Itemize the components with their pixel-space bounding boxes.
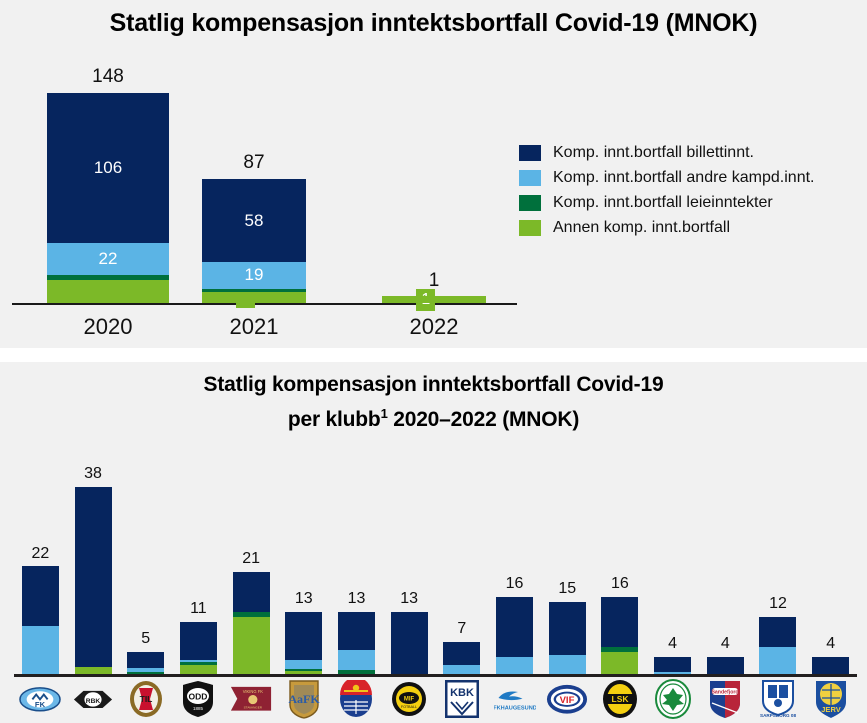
club-bar-10[interactable]	[549, 602, 586, 677]
club-logo-odd: ODD1885	[172, 680, 225, 723]
top-chart-plot-area: 164221061482020821958872021112022	[12, 60, 517, 305]
club-bar-total-12: 4	[646, 635, 699, 653]
legend-swatch-billettinnt	[519, 145, 541, 161]
svg-text:SARPSBORG 08: SARPSBORG 08	[760, 713, 796, 718]
club-bar-segment-0-billettinnt	[22, 566, 59, 626]
top-bar-segment-2020-billettinnt: 106	[47, 93, 169, 244]
club-bar-9[interactable]	[496, 597, 533, 677]
club-bar-segment-6-billettinnt	[338, 612, 375, 650]
svg-text:AaFK: AaFK	[288, 692, 320, 706]
svg-text:LSK: LSK	[611, 694, 629, 704]
svg-text:RBK: RBK	[86, 697, 101, 704]
odd-icon: ODD1885	[181, 680, 215, 723]
top-bar-segment-2020-annen	[47, 280, 169, 303]
svg-text:STAVANGER: STAVANGER	[244, 706, 263, 710]
svg-text:ODD: ODD	[189, 692, 208, 702]
club-bar-segment-14-billettinnt	[759, 617, 796, 647]
top-bar-total-2021: 87	[202, 152, 306, 174]
bottom-chart-title-line2-b: 2020–2022 (MNOK)	[388, 408, 580, 431]
top-category-label-2021: 2021	[202, 314, 306, 340]
top-bar-total-2020: 148	[47, 66, 169, 88]
bottom-chart-title-line2-a: per klubb	[288, 408, 381, 431]
club-bar-8[interactable]	[443, 642, 480, 677]
club-bar-total-14: 12	[752, 595, 805, 613]
fk-haugesund-icon: FKHAUGESUND	[494, 686, 536, 717]
club-logo-viking-fk: VIKING FKSTAVANGER	[225, 680, 278, 723]
chart-page: Statlig kompensasjon inntektsbortfall Co…	[0, 0, 867, 723]
club-bar-3[interactable]	[180, 622, 217, 677]
bottom-chart-title-line2: per klubb1 2020–2022 (MNOK)	[0, 399, 867, 434]
svg-text:VIF: VIF	[560, 695, 575, 706]
club-bar-total-15: 4	[804, 635, 857, 653]
club-bar-total-0: 22	[14, 545, 67, 563]
legend-label-billettinnt: Komp. innt.bortfall billettinnt.	[553, 144, 754, 162]
club-logo-kristiansund-bk: KBK	[436, 680, 489, 723]
legend-label-annen: Annen komp. innt.bortfall	[553, 219, 730, 237]
club-bar-segment-10-billettinnt	[549, 602, 586, 655]
club-logo-sandefjord-fotball	[330, 680, 383, 723]
svg-text:JERV: JERV	[821, 705, 840, 714]
top-bar-2021[interactable]: 1958	[202, 179, 306, 303]
top-chart-title: Statlig kompensasjon inntektsbortfall Co…	[0, 9, 867, 38]
club-logo-rosenborg-bk: RBK	[67, 680, 120, 723]
legend-item-leieinntekter[interactable]: Komp. innt.bortfall leieinntekter	[519, 190, 814, 215]
top-bar-segment-2021-andre_kampd: 19	[202, 262, 306, 289]
legend-swatch-leieinntekter	[519, 195, 541, 211]
top-chart-legend: Komp. innt.bortfall billettinnt.Komp. in…	[519, 140, 814, 240]
club-bar-segment-6-leieinntekter	[338, 670, 375, 674]
svg-text:TIL: TIL	[139, 694, 152, 704]
svg-text:FK: FK	[35, 700, 46, 709]
top-segment-label-2020-billettinnt: 106	[47, 159, 169, 176]
sandefjord-fotball-icon	[338, 680, 374, 723]
top-bar-total-2022: 1	[382, 270, 486, 292]
club-logo-tromso-il: TIL	[119, 680, 172, 723]
club-bar-segment-5-billettinnt	[285, 612, 322, 660]
club-bar-7[interactable]	[391, 612, 428, 677]
svg-text:KBK: KBK	[450, 687, 474, 699]
club-bar-segment-4-leieinntekter	[233, 612, 270, 617]
top-bar-segment-2021-billettinnt: 58	[202, 179, 306, 261]
hamkam-icon	[655, 679, 691, 723]
bottom-chart-title-line1: Statlig kompensasjon inntektsbortfall Co…	[204, 373, 664, 396]
club-bar-total-10: 15	[541, 580, 594, 598]
top-category-label-2022: 2022	[382, 314, 486, 340]
club-logo-sarpsborg-08: SARPSBORG 08	[752, 680, 805, 723]
top-chart-axis	[12, 303, 517, 305]
club-logo-fk-jerv: JERV	[804, 680, 857, 723]
club-bar-6[interactable]	[338, 612, 375, 677]
club-bar-1[interactable]	[75, 487, 112, 677]
top-bar-segment-2020-andre_kampd: 22	[47, 243, 169, 274]
legend-swatch-andre_kampd	[519, 170, 541, 186]
top-segment-label-2021-billettinnt: 58	[202, 212, 306, 229]
tromso-il-icon: TIL	[128, 680, 164, 723]
top-segment-label-2020-andre_kampd: 22	[47, 250, 169, 267]
footnote-marker: 1	[381, 406, 388, 421]
club-bar-segment-11-leieinntekter	[601, 647, 638, 652]
top-segment-label-2021-andre_kampd: 19	[202, 266, 306, 283]
club-bar-11[interactable]	[601, 597, 638, 677]
club-bar-14[interactable]	[759, 617, 796, 677]
club-bar-segment-3-leieinntekter	[180, 662, 217, 665]
top-bar-segment-2021-annen	[202, 292, 306, 303]
club-bar-segment-11-billettinnt	[601, 597, 638, 647]
viking-fk-icon: VIKING FKSTAVANGER	[230, 685, 272, 717]
club-bar-segment-2-andre_kampd	[127, 668, 164, 672]
svg-text:FKHAUGESUND: FKHAUGESUND	[494, 706, 536, 712]
club-bar-total-3: 11	[172, 600, 225, 618]
bottom-chart-plot-area: 223851121131313716151644124	[14, 447, 857, 677]
legend-swatch-annen	[519, 220, 541, 236]
club-logo-lillestrom-alt: MIFFOTBALL	[383, 680, 436, 723]
bottom-chart-axis	[14, 674, 857, 677]
svg-text:MIF: MIF	[404, 697, 415, 703]
club-bar-total-5: 13	[277, 590, 330, 608]
club-logo-fk-haugesund: FKHAUGESUND	[488, 680, 541, 723]
club-bar-total-11: 16	[594, 575, 647, 593]
top-bar-2020[interactable]: 22106	[47, 93, 169, 303]
club-bar-segment-5-andre_kampd	[285, 660, 322, 669]
club-bar-segment-4-annen	[233, 617, 270, 677]
legend-label-leieinntekter: Komp. innt.bortfall leieinntekter	[553, 194, 773, 212]
club-bar-segment-0-andre_kampd	[22, 626, 59, 676]
top-bar-segment-2022-annen	[382, 296, 486, 303]
club-bar-total-4: 21	[225, 550, 278, 568]
club-logo-hamkam	[646, 680, 699, 723]
club-bar-segment-4-billettinnt	[233, 572, 270, 612]
club-bar-0[interactable]	[22, 567, 59, 677]
club-bar-segment-9-billettinnt	[496, 597, 533, 657]
top-chart-panel: Statlig kompensasjon inntektsbortfall Co…	[0, 0, 867, 348]
club-bar-4[interactable]	[233, 572, 270, 677]
club-bar-segment-12-billettinnt	[654, 657, 691, 672]
club-bar-total-8: 7	[436, 620, 489, 638]
svg-text:VIKING FK: VIKING FK	[243, 690, 264, 695]
club-bar-segment-13-billettinnt	[707, 657, 744, 674]
top-bar-2022[interactable]	[382, 297, 486, 303]
club-bar-segment-8-billettinnt	[443, 642, 480, 665]
valerenga-icon: VIF	[546, 683, 588, 721]
molde-fk-icon: FK	[19, 686, 61, 718]
rosenborg-bk-icon: RBK	[72, 688, 114, 716]
club-bar-segment-6-andre_kampd	[338, 650, 375, 670]
club-logo-sandefjord: Sandefjord	[699, 680, 752, 723]
fk-jerv-icon: JERV	[814, 679, 848, 723]
club-bar-total-1: 38	[67, 465, 120, 483]
club-bar-segment-2-billettinnt	[127, 652, 164, 668]
lillestrom-sk-icon: LSK	[602, 679, 638, 723]
club-bar-total-9: 16	[488, 575, 541, 593]
club-bar-segment-14-andre_kampd	[759, 647, 796, 677]
top-category-label-2020: 2020	[47, 314, 169, 340]
club-bar-total-6: 13	[330, 590, 383, 608]
club-bar-segment-3-billettinnt	[180, 622, 217, 660]
kristiansund-bk-icon: KBK	[445, 680, 479, 723]
bottom-chart-title: Statlig kompensasjon inntektsbortfall Co…	[0, 370, 867, 434]
svg-text:FOTBALL: FOTBALL	[401, 705, 417, 709]
legend-item-billettinnt[interactable]: Komp. innt.bortfall billettinnt.	[519, 140, 814, 165]
club-bar-total-13: 4	[699, 635, 752, 653]
legend-item-andre_kampd[interactable]: Komp. innt.bortfall andre kampd.innt.	[519, 165, 814, 190]
club-bar-total-7: 13	[383, 590, 436, 608]
aalesunds-fk-icon: AaFK	[287, 679, 321, 723]
club-logo-aalesunds-fk: AaFK	[277, 680, 330, 723]
club-logo-molde-fk: FK	[14, 680, 67, 723]
sandefjord-icon: Sandefjord	[708, 679, 742, 723]
legend-item-annen[interactable]: Annen komp. innt.bortfall	[519, 215, 814, 240]
club-logo-valerenga: VIF	[541, 680, 594, 723]
lillestrom-alt-icon: MIFFOTBALL	[391, 681, 427, 722]
club-bar-segment-7-billettinnt	[391, 612, 428, 677]
club-logo-row: FKRBKTILODD1885VIKING FKSTAVANGERAaFKMIF…	[14, 680, 857, 723]
club-bar-segment-1-billettinnt	[75, 487, 112, 667]
sarpsborg-08-icon: SARPSBORG 08	[759, 679, 797, 723]
legend-label-andre_kampd: Komp. innt.bortfall andre kampd.innt.	[553, 169, 814, 187]
club-bar-total-2: 5	[119, 630, 172, 648]
club-logo-lillestrom-sk: LSK	[594, 680, 647, 723]
club-bar-segment-8-andre_kampd	[443, 665, 480, 674]
svg-text:1885: 1885	[193, 706, 204, 711]
club-bar-5[interactable]	[285, 612, 322, 677]
svg-text:Sandefjord: Sandefjord	[712, 690, 739, 696]
